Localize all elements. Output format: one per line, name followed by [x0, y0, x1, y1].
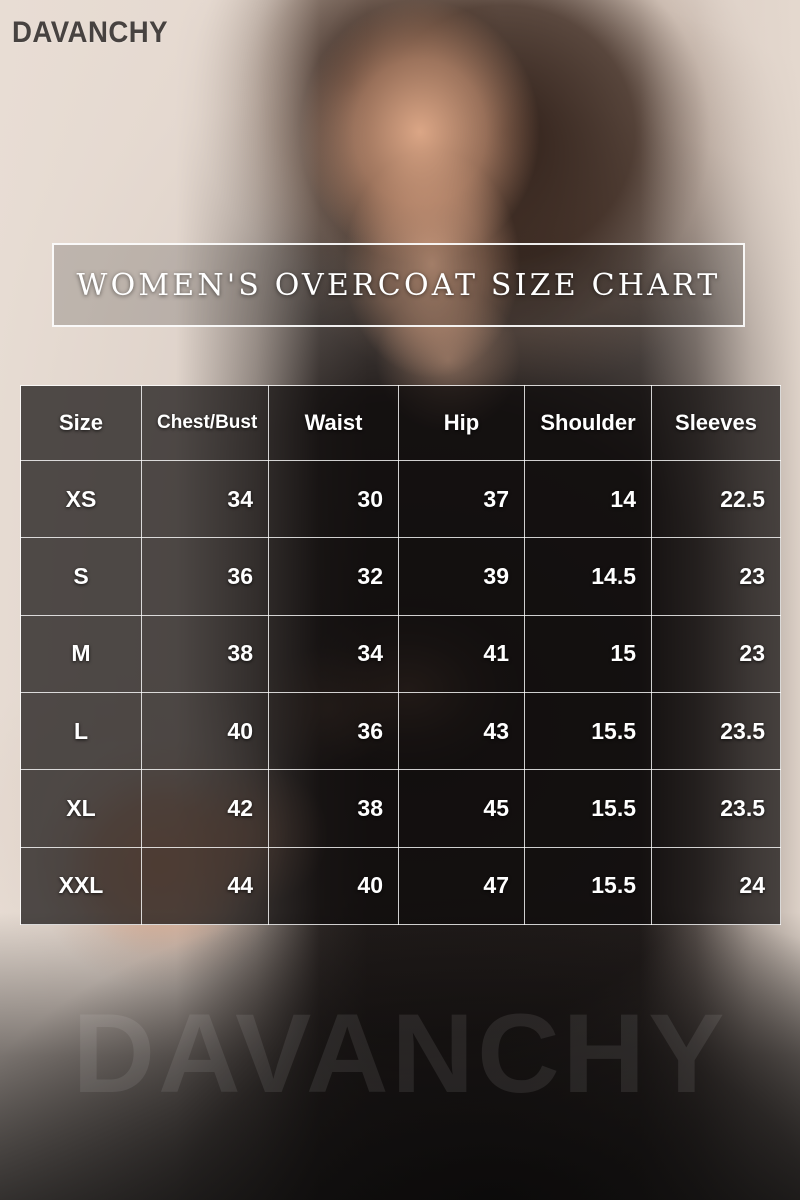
cell-hip: 47 — [399, 847, 525, 924]
cell-shoulder: 14.5 — [525, 538, 652, 615]
cell-chest: 34 — [142, 461, 269, 538]
cell-shoulder: 15.5 — [525, 847, 652, 924]
table-row: L 40 36 43 15.5 23.5 — [21, 692, 781, 769]
table-row: XXL 44 40 47 15.5 24 — [21, 847, 781, 924]
cell-hip: 45 — [399, 770, 525, 847]
table-row: XS 34 30 37 14 22.5 — [21, 461, 781, 538]
cell-sleeves: 23.5 — [652, 692, 781, 769]
cell-hip: 39 — [399, 538, 525, 615]
cell-size: XXL — [21, 847, 142, 924]
cell-chest: 36 — [142, 538, 269, 615]
size-chart-page: DAVANCHY WOMEN'S OVERCOAT SIZE CHART Siz… — [0, 0, 800, 1200]
table-row: XL 42 38 45 15.5 23.5 — [21, 770, 781, 847]
cell-size: XL — [21, 770, 142, 847]
column-header-hip: Hip — [399, 386, 525, 461]
table-header: Size Chest/Bust Waist Hip Shoulder Sleev… — [21, 386, 781, 461]
cell-sleeves: 23 — [652, 615, 781, 692]
cell-size: L — [21, 692, 142, 769]
cell-waist: 32 — [269, 538, 399, 615]
column-header-size: Size — [21, 386, 142, 461]
cell-chest: 38 — [142, 615, 269, 692]
cell-size: XS — [21, 461, 142, 538]
brand-logo: DAVANCHY — [12, 16, 168, 50]
cell-chest: 44 — [142, 847, 269, 924]
size-chart-table-container: Size Chest/Bust Waist Hip Shoulder Sleev… — [20, 385, 780, 925]
cell-shoulder: 15.5 — [525, 770, 652, 847]
cell-waist: 38 — [269, 770, 399, 847]
cell-hip: 43 — [399, 692, 525, 769]
column-header-chest-bust: Chest/Bust — [142, 386, 269, 461]
table-body: XS 34 30 37 14 22.5 S 36 32 39 14.5 23 M — [21, 461, 781, 925]
column-header-sleeves: Sleeves — [652, 386, 781, 461]
column-header-shoulder: Shoulder — [525, 386, 652, 461]
table-row: S 36 32 39 14.5 23 — [21, 538, 781, 615]
title-banner: WOMEN'S OVERCOAT SIZE CHART — [52, 243, 745, 327]
cell-chest: 40 — [142, 692, 269, 769]
cell-sleeves: 23.5 — [652, 770, 781, 847]
cell-chest: 42 — [142, 770, 269, 847]
cell-sleeves: 24 — [652, 847, 781, 924]
table-row: M 38 34 41 15 23 — [21, 615, 781, 692]
cell-sleeves: 22.5 — [652, 461, 781, 538]
cell-waist: 34 — [269, 615, 399, 692]
cell-shoulder: 15.5 — [525, 692, 652, 769]
table-header-row: Size Chest/Bust Waist Hip Shoulder Sleev… — [21, 386, 781, 461]
cell-hip: 37 — [399, 461, 525, 538]
cell-waist: 40 — [269, 847, 399, 924]
column-header-waist: Waist — [269, 386, 399, 461]
cell-waist: 30 — [269, 461, 399, 538]
cell-size: M — [21, 615, 142, 692]
size-chart-table: Size Chest/Bust Waist Hip Shoulder Sleev… — [20, 385, 781, 925]
page-title: WOMEN'S OVERCOAT SIZE CHART — [77, 268, 721, 303]
cell-sleeves: 23 — [652, 538, 781, 615]
cell-waist: 36 — [269, 692, 399, 769]
cell-shoulder: 14 — [525, 461, 652, 538]
cell-hip: 41 — [399, 615, 525, 692]
cell-shoulder: 15 — [525, 615, 652, 692]
cell-size: S — [21, 538, 142, 615]
